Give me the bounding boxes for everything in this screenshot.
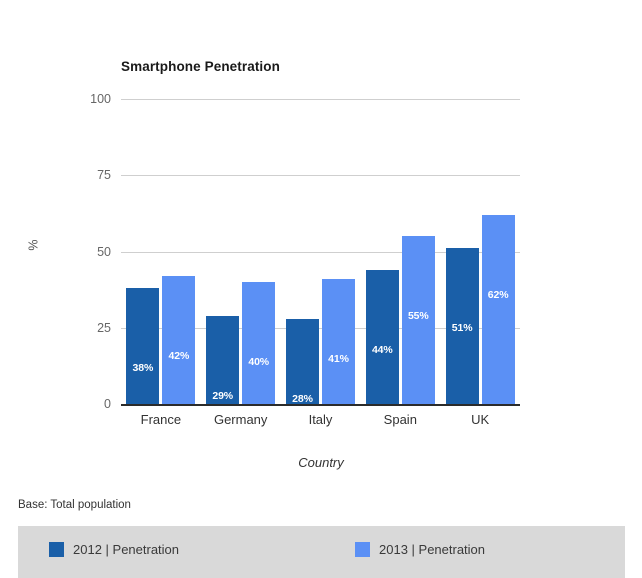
bar-value-label: 62% [482, 289, 515, 301]
legend-item[interactable]: 2012 | Penetration [49, 542, 179, 557]
y-axis-tick-label: 100 [51, 92, 111, 106]
bar-value-label: 28% [286, 393, 319, 405]
bar[interactable]: 55% [402, 236, 435, 404]
x-axis-line [121, 404, 520, 406]
bar[interactable]: 28% [286, 319, 319, 404]
bar-value-label: 44% [366, 344, 399, 356]
legend-label: 2013 | Penetration [379, 542, 485, 557]
legend-item[interactable]: 2013 | Penetration [355, 542, 485, 557]
bar-group: 38%42% [126, 99, 195, 404]
bar[interactable]: 62% [482, 215, 515, 404]
legend-panel: 2012 | Penetration2013 | Penetration [18, 526, 625, 578]
bar[interactable]: 38% [126, 288, 159, 404]
y-axis-tick-label: 25 [51, 321, 111, 335]
bar-value-label: 29% [206, 390, 239, 402]
bar-value-label: 38% [126, 362, 159, 374]
bar-value-label: 41% [322, 353, 355, 365]
chart-title: Smartphone Penetration [121, 59, 280, 74]
base-note: Base: Total population [18, 499, 131, 511]
x-axis-title-text: Country [298, 455, 344, 470]
bar[interactable]: 44% [366, 270, 399, 404]
bar-group: 28%41% [286, 99, 355, 404]
y-axis-title: % [27, 239, 41, 250]
y-axis-tick-labels: 0255075100 [51, 99, 111, 404]
x-axis-title: Country [0, 455, 642, 470]
bar[interactable]: 29% [206, 316, 239, 404]
y-axis-tick-label: 50 [51, 245, 111, 259]
bar-value-label: 55% [402, 310, 435, 322]
y-axis-tick-label: 75 [51, 168, 111, 182]
smartphone-penetration-chart: Smartphone Penetration % 0255075100 38%4… [0, 0, 642, 578]
legend-swatch [49, 542, 64, 557]
legend-swatch [355, 542, 370, 557]
y-axis-tick-label: 0 [51, 397, 111, 411]
bar-group: 29%40% [206, 99, 275, 404]
legend-label: 2012 | Penetration [73, 542, 179, 557]
bar-value-label: 40% [242, 356, 275, 368]
bar[interactable]: 40% [242, 282, 275, 404]
x-axis-category-label: UK [420, 412, 540, 427]
bar-value-label: 51% [446, 322, 479, 334]
bar-group: 44%55% [366, 99, 435, 404]
bar[interactable]: 41% [322, 279, 355, 404]
bar[interactable]: 42% [162, 276, 195, 404]
plot-area: 38%42%29%40%28%41%44%55%51%62% [121, 99, 520, 404]
bar[interactable]: 51% [446, 248, 479, 404]
bar-value-label: 42% [162, 350, 195, 362]
bar-group: 51%62% [446, 99, 515, 404]
